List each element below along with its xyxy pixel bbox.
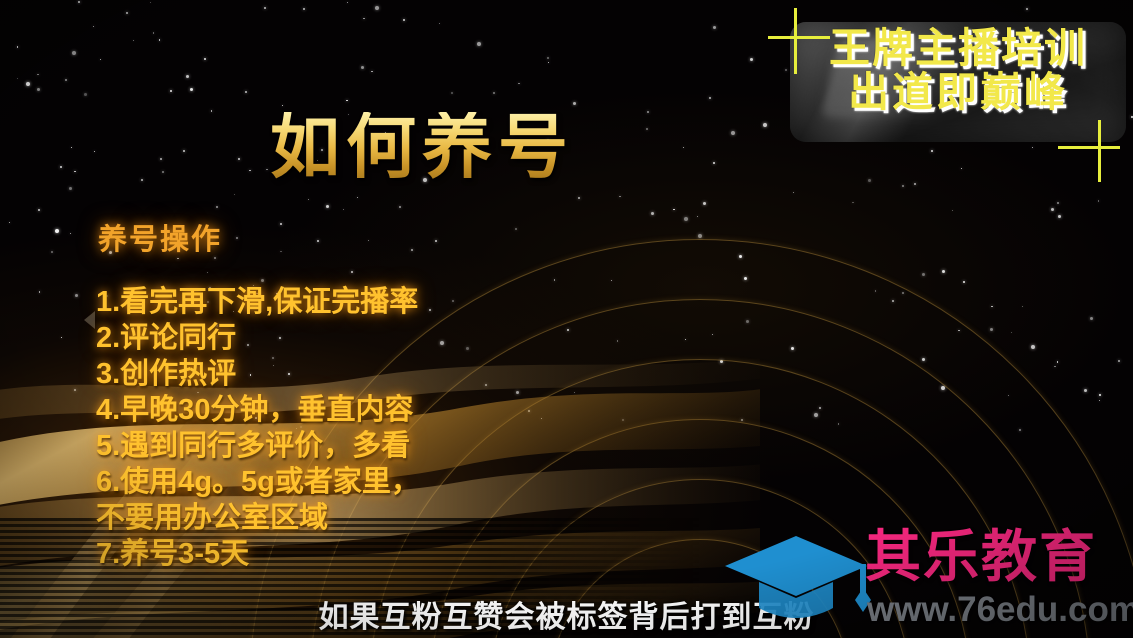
cross-decoration-top-left-icon <box>768 8 830 74</box>
video-slide-frame: 王牌主播培训 出道即巅峰 如何养号 养号操作 1.看完再下滑,保证完播率2.评论… <box>0 0 1133 638</box>
promo-badge: 王牌主播培训 出道即巅峰 <box>768 8 1130 160</box>
left-edge-triangle-icon <box>84 311 95 329</box>
list-item: 1.看完再下滑,保证完播率 <box>96 284 566 320</box>
list-item: 5.遇到同行多评价，多看 <box>96 428 566 464</box>
section-heading: 养号操作 <box>98 216 222 258</box>
list-item: 7.养号3-5天 <box>96 536 566 572</box>
list-item: 不要用办公室区域 <box>96 500 566 536</box>
badge-text-block: 王牌主播培训 出道即巅峰 <box>796 26 1120 115</box>
badge-line-1: 王牌主播培训 <box>796 26 1120 70</box>
watermark-brand: 其乐教育 <box>865 528 1097 587</box>
list-item: 6.使用4g。5g或者家里， <box>96 464 566 500</box>
cross-decoration-bottom-right-icon <box>1058 120 1120 182</box>
list-item: 3.创作热评 <box>96 356 566 392</box>
badge-line-2: 出道即巅峰 <box>796 70 1120 114</box>
graduation-cap-icon <box>721 530 871 618</box>
list-item: 2.评论同行 <box>96 320 566 356</box>
watermark-url: www.76edu.com <box>867 590 1133 630</box>
list-item: 4.早晚30分钟，垂直内容 <box>96 392 566 428</box>
page-title: 如何养号 <box>270 112 574 182</box>
watermark: 其乐教育 www.76edu.com <box>715 528 1127 632</box>
instruction-list: 1.看完再下滑,保证完播率2.评论同行3.创作热评4.早晚30分钟，垂直内容5.… <box>96 284 566 572</box>
